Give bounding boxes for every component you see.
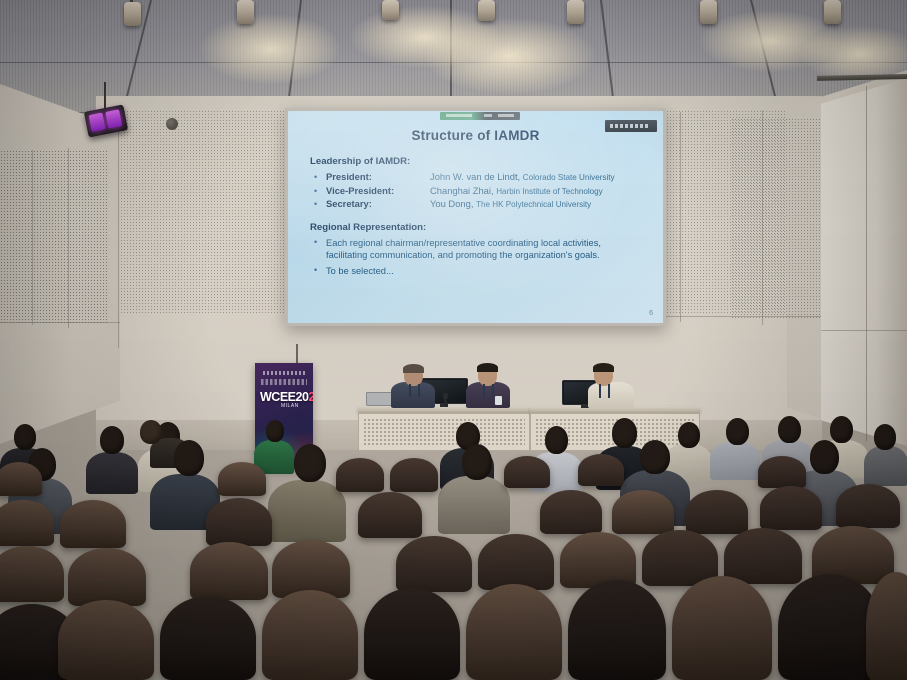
ceiling-seam <box>0 62 907 63</box>
affiliation: The HK Polytechnical University <box>476 200 591 209</box>
slide-body: Leadership of IAMDR: • President: John W… <box>310 156 653 277</box>
bullet-icon: • <box>310 265 326 277</box>
chair <box>540 490 602 534</box>
bullet-icon: • <box>310 199 326 209</box>
section-heading-regional: Regional Representation: <box>310 222 653 233</box>
slide-page-number: 6 <box>649 310 653 317</box>
attendee-head <box>100 426 124 454</box>
microphone <box>444 398 447 406</box>
wall-panel-seam <box>68 148 69 328</box>
bullet-icon: • <box>310 172 326 182</box>
wall-panel-seam <box>32 150 33 325</box>
panel-table-front <box>358 413 530 451</box>
chair <box>568 580 666 680</box>
regional-point: • Each regional chairman/representative … <box>310 237 653 262</box>
name-badge <box>495 396 502 405</box>
lanyard <box>418 384 420 397</box>
projected-slide: Structure of IAMDR Leadership of IAMDR: … <box>288 111 663 323</box>
attendee-head <box>874 424 896 450</box>
ceiling-spotlight <box>478 0 495 21</box>
chair <box>478 534 554 590</box>
chair <box>218 462 266 496</box>
perforated-acoustic-wall <box>731 118 821 318</box>
attendee-head <box>462 444 492 480</box>
leadership-row: • Vice-President: Changhai Zhai, Harbin … <box>310 185 653 196</box>
chair <box>160 596 256 680</box>
chair <box>758 456 806 488</box>
chair <box>262 590 358 680</box>
lanyard <box>492 384 494 398</box>
chair <box>686 490 748 534</box>
wall-panel-seam <box>0 322 120 323</box>
point-line: facilitating communication, and promotin… <box>326 250 600 260</box>
role-label: Secretary: <box>326 198 430 209</box>
chair <box>396 536 472 592</box>
chair <box>724 528 802 584</box>
wall-panel-seam <box>118 108 119 348</box>
banner-subtitle-strip <box>261 379 307 385</box>
attendee-head <box>140 420 162 444</box>
person-name: You Dong, The HK Polytechnical Universit… <box>430 198 591 209</box>
section-heading-leadership: Leadership of IAMDR: <box>310 156 653 167</box>
attendee-body <box>268 480 346 542</box>
person-name: Changhai Zhai, Harbin Institute of Techn… <box>430 185 603 196</box>
point-text: To be selected... <box>326 265 394 277</box>
movable-partition-wall <box>821 78 907 446</box>
attendee-head <box>545 426 568 454</box>
point-line: Each regional chairman/representative co… <box>326 238 601 248</box>
attendee-body <box>864 446 907 486</box>
bullet-icon: • <box>310 237 326 262</box>
lanyard <box>599 384 601 398</box>
chair <box>0 500 54 546</box>
chair <box>760 486 822 530</box>
partition-seam <box>821 330 907 331</box>
microphone-head <box>443 393 448 399</box>
chair <box>836 484 900 528</box>
chair <box>68 548 146 606</box>
laptop <box>366 392 392 406</box>
ceiling-spotlight <box>124 2 141 26</box>
leadership-row: • President: John W. van de Lindt, Color… <box>310 171 653 182</box>
panelist-hair <box>593 363 614 372</box>
panelist-hair <box>477 363 498 372</box>
attendee-head <box>612 418 637 448</box>
banner-header-strip <box>263 371 305 375</box>
attendee-head <box>294 444 326 482</box>
chair <box>390 458 438 492</box>
partition-seam <box>866 86 867 441</box>
slide-title: Structure of IAMDR <box>288 128 663 143</box>
ceiling-spotlight <box>237 0 254 24</box>
bullet-icon: • <box>310 186 326 196</box>
attendee-head <box>640 440 670 474</box>
point-text: Each regional chairman/representative co… <box>326 237 601 262</box>
person-name: John W. van de Lindt, Colorado State Uni… <box>430 171 615 182</box>
chair <box>612 490 674 534</box>
banner-city: MILAN <box>281 403 299 409</box>
chair <box>560 532 636 588</box>
perforated-acoustic-wall <box>0 150 108 325</box>
ceiling-spotlight <box>700 0 717 24</box>
attendee-head <box>726 418 749 445</box>
ceiling-spotlight <box>567 0 584 24</box>
wall-speaker <box>166 118 178 130</box>
panelist-torso <box>588 382 634 408</box>
chair <box>364 588 460 680</box>
attendee-body <box>438 476 510 534</box>
attendee-head <box>830 416 853 443</box>
banner-title: WCEE2024 <box>260 390 313 404</box>
attendee-head <box>778 416 801 443</box>
panelist-hair <box>403 364 424 373</box>
attendee-head <box>14 424 36 450</box>
chair <box>206 498 272 546</box>
chair <box>466 584 562 680</box>
chair <box>866 572 907 680</box>
presentation-toolbar[interactable] <box>440 112 520 120</box>
chair <box>578 454 624 486</box>
chair <box>0 462 42 496</box>
leadership-row: • Secretary: You Dong, The HK Polytechni… <box>310 198 653 209</box>
wall-panel-seam <box>680 112 681 322</box>
lanyard <box>483 384 485 398</box>
role-label: Vice-President: <box>326 185 430 196</box>
ceiling-spotlight <box>824 0 841 24</box>
regional-point: • To be selected... <box>310 265 653 277</box>
attendee-head <box>174 440 204 476</box>
chair <box>672 576 772 680</box>
chair <box>60 500 126 548</box>
chair <box>336 458 384 492</box>
chair <box>504 456 550 488</box>
chair <box>58 600 154 680</box>
affiliation: Colorado State University <box>523 173 615 182</box>
projection-screen: Structure of IAMDR Leadership of IAMDR: … <box>285 108 666 326</box>
wall-panel-seam <box>762 110 763 325</box>
role-label: President: <box>326 171 430 182</box>
attendee-body <box>710 442 760 480</box>
attendee-head <box>810 440 839 474</box>
attendee-head <box>678 422 700 448</box>
chair <box>358 492 422 538</box>
chair <box>190 542 268 600</box>
attendee-body <box>86 452 138 494</box>
affiliation: Harbin Institute of Technology <box>496 187 602 196</box>
wall-panel-seam <box>660 316 822 317</box>
ceiling-spotlight <box>382 0 399 20</box>
lanyard <box>608 384 610 398</box>
lanyard <box>409 384 411 397</box>
conference-room-photo: Structure of IAMDR Leadership of IAMDR: … <box>0 0 907 680</box>
chair <box>0 546 64 602</box>
attendee-head <box>266 420 284 442</box>
